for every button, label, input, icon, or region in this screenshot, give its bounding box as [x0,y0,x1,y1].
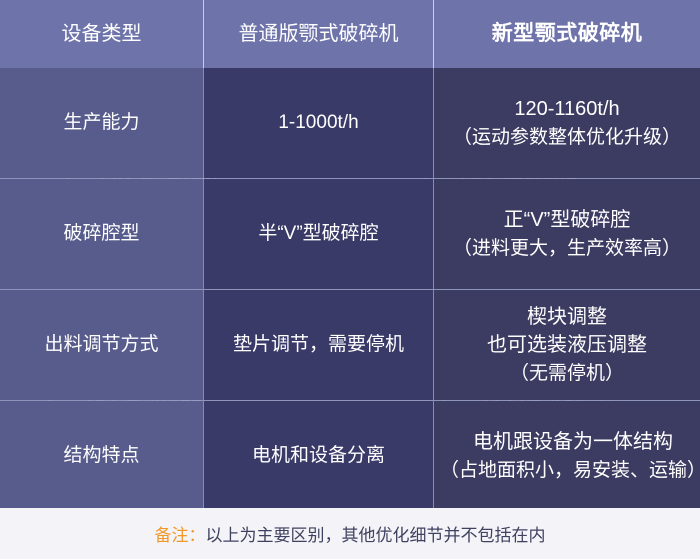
cell-line: （占地面积小，易安装、运输） [440,458,700,483]
comparison-infographic: 设备类型 普通版颚式破碎机 新型颚式破碎机 ★★★ 红星机器HONGXING M… [0,0,700,559]
cell-line: 也可选装液压调整 [487,332,647,358]
note-label: 备注： [155,521,206,546]
cell-line: 120-1160t/h [514,96,619,122]
cell-line: （无需停机） [510,361,624,386]
cell-new-structure: 电机跟设备为一体结构 （占地面积小，易安装、运输） [434,401,700,508]
row-label-structure: 结构特点 [0,401,203,508]
note-text: 以上为主要区别，其他优化细节并不包括在内 [206,521,546,546]
cell-line: 电机跟设备为一体结构 [473,429,673,455]
cell-standard-structure: 电机和设备分离 [203,401,434,508]
row-label-capacity: 生产能力 [0,68,203,178]
row-label-discharge-adjustment: 出料调节方式 [0,290,203,400]
cell-new-chamber: 正“V”型破碎腔 （进料更大，生产效率高） [434,179,700,289]
table-row: ★★★ 红星机器HONGXING MACHINERY ★★★ 红星机器HONGX… [0,289,700,400]
cell-standard-chamber: 半“V”型破碎腔 [203,179,434,289]
table-row: ★★★ 红星机器HONGXING MACHINERY ★★★ 红星机器HONGX… [0,400,700,508]
header-cell-standard-crusher: 普通版颚式破碎机 [203,0,434,68]
comparison-table: 设备类型 普通版颚式破碎机 新型颚式破碎机 ★★★ 红星机器HONGXING M… [0,0,700,508]
cell-new-capacity: 120-1160t/h （运动参数整体优化升级） [434,68,700,178]
cell-line: 正“V”型破碎腔 [504,207,631,233]
cell-line: （进料更大，生产效率高） [453,236,681,261]
cell-standard-capacity: 1-1000t/h [203,68,434,178]
cell-line: 楔块调整 [527,304,607,330]
table-row: ★★★ 红星机器HONGXING MACHINERY ★★★ 红星机器HONGX… [0,178,700,289]
table-row: ★★★ 红星机器HONGXING MACHINERY ★★★ 红星机器HONGX… [0,68,700,178]
cell-standard-discharge: 垫片调节，需要停机 [203,290,434,400]
cell-line: （运动参数整体优化升级） [453,125,681,150]
row-label-chamber-type: 破碎腔型 [0,179,203,289]
footer-note: 备注：以上为主要区别，其他优化细节并不包括在内 [0,508,700,559]
header-cell-new-crusher: 新型颚式破碎机 [434,0,700,68]
cell-new-discharge: 楔块调整 也可选装液压调整 （无需停机） [434,290,700,400]
table-header-row: 设备类型 普通版颚式破碎机 新型颚式破碎机 [0,0,700,68]
header-cell-equipment-type: 设备类型 [0,0,203,68]
